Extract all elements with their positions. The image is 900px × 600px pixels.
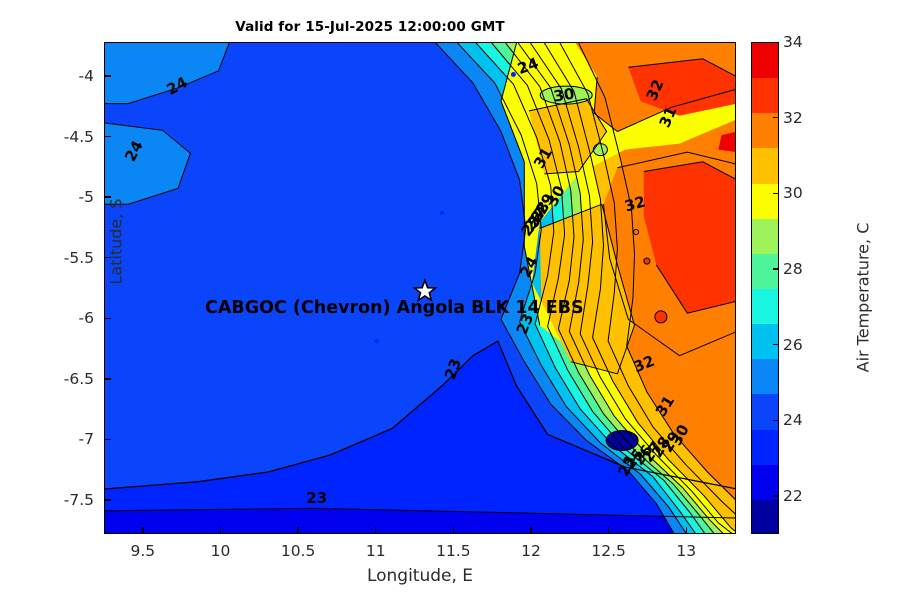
- colorbar-band: [752, 254, 778, 289]
- chart-title: Valid for 15-Jul-2025 12:00:00 GMT: [0, 19, 740, 35]
- closed-contour-cell: [511, 72, 516, 77]
- colorbar-tick-label: 26: [783, 336, 803, 354]
- colorbar-band: [752, 113, 778, 148]
- y-tick-mark: [104, 499, 111, 500]
- y-tick-label: -5: [34, 188, 94, 206]
- colorbar-tick-label: 24: [783, 411, 803, 429]
- y-tick-label: -5.5: [34, 249, 94, 267]
- colorbar-band: [752, 219, 778, 254]
- colorbar-tick-mark: [773, 420, 779, 421]
- x-tick-label: 10: [185, 542, 255, 560]
- colorbar-tick-label: 28: [783, 260, 803, 278]
- closed-contour-cell: [593, 144, 607, 156]
- x-tick-mark: [453, 527, 454, 534]
- x-tick-mark: [530, 527, 531, 534]
- colorbar-tick-label: 34: [783, 33, 803, 51]
- y-tick-label: -7: [34, 430, 94, 448]
- colorbar-tick-mark: [773, 495, 779, 496]
- x-axis-label: Longitude, E: [104, 566, 736, 586]
- contour-label: 30: [552, 85, 575, 106]
- y-tick-label: -4.5: [34, 128, 94, 146]
- y-tick-mark: [104, 75, 111, 76]
- x-tick-mark: [608, 527, 609, 534]
- colorbar-band: [752, 78, 778, 113]
- colorbar-tick-label: 30: [783, 184, 803, 202]
- y-tick-label: -6.5: [34, 370, 94, 388]
- y-tick-mark: [104, 378, 111, 379]
- x-tick-label: 12: [496, 542, 566, 560]
- colorbar-band: [752, 289, 778, 324]
- x-tick-label: 11: [341, 542, 411, 560]
- contour-label: 23: [306, 489, 327, 507]
- colorbar-band: [752, 500, 778, 534]
- x-tick-mark: [686, 527, 687, 534]
- y-tick-label: -7.5: [34, 491, 94, 509]
- colorbar: [751, 42, 779, 534]
- colorbar-band: [752, 394, 778, 429]
- x-tick-mark: [220, 527, 221, 534]
- colorbar-band: [752, 430, 778, 465]
- colorbar-tick-mark: [773, 268, 779, 269]
- colorbar-tick-label: 32: [783, 109, 803, 127]
- colorbar-tick-mark: [773, 193, 779, 194]
- colorbar-band: [752, 148, 778, 183]
- colorbar-tick-mark: [773, 344, 779, 345]
- colorbar-tick-mark: [773, 117, 779, 118]
- y-tick-label: -4: [34, 67, 94, 85]
- closed-contour-cell: [655, 311, 667, 323]
- colorbar-band: [752, 359, 778, 394]
- x-tick-label: 12.5: [574, 542, 644, 560]
- x-tick-mark: [375, 527, 376, 534]
- colorbar-tick-label: 22: [783, 487, 803, 505]
- closed-contour-cell: [634, 230, 639, 235]
- y-tick-label: -6: [34, 309, 94, 327]
- closed-contour-cell: [375, 339, 379, 343]
- x-tick-mark: [142, 527, 143, 534]
- colorbar-band: [752, 324, 778, 359]
- x-tick-label: 10.5: [263, 542, 333, 560]
- colorbar-label: Air Temperature, C: [854, 138, 873, 458]
- x-tick-label: 9.5: [108, 542, 178, 560]
- closed-contour-cell: [440, 211, 444, 215]
- temperature-contour-map: Valid for 15-Jul-2025 12:00:00 GMT Latit…: [0, 0, 900, 600]
- colorbar-band: [752, 184, 778, 219]
- y-tick-mark: [104, 196, 111, 197]
- y-tick-mark: [104, 439, 111, 440]
- x-tick-label: 11.5: [418, 542, 488, 560]
- colorbar-band: [752, 43, 778, 78]
- y-tick-mark: [104, 136, 111, 137]
- y-tick-mark: [104, 257, 111, 258]
- y-tick-mark: [104, 318, 111, 319]
- closed-contour-cell: [644, 258, 650, 264]
- x-tick-mark: [297, 527, 298, 534]
- x-tick-label: 13: [651, 542, 721, 560]
